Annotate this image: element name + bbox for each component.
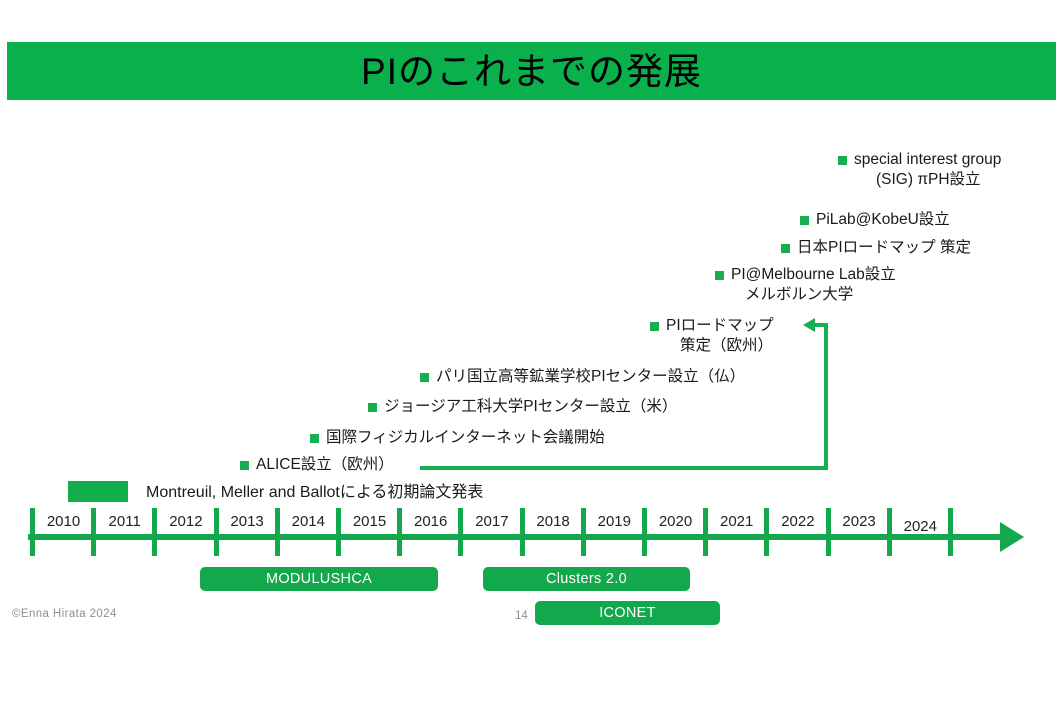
milestone-line1: PI@Melbourne Lab設立 [731, 265, 896, 285]
timeline-year-2011: 2011 [94, 512, 155, 532]
seed-paper-label: Montreuil, Meller and Ballotによる初期論文発表 [146, 483, 483, 503]
bullet-square-icon [838, 156, 847, 165]
timeline-year-2012: 2012 [155, 512, 216, 532]
slide-canvas: PIのこれまでの発展 special interest group (SIG) … [0, 0, 1063, 705]
bullet-square-icon [368, 403, 377, 412]
milestone-line1: ジョージア工科大学PIセンター設立（米） [384, 397, 677, 417]
footer-copyright: ©Enna Hirata 2024 [12, 608, 117, 620]
timeline-tick-lower [642, 540, 647, 556]
timeline-axis-line [28, 534, 1006, 540]
connector-arrow-icon [803, 318, 815, 332]
milestone-japan-pi-roadmap: 日本PIロードマップ 策定 [781, 238, 971, 258]
bullet-square-icon [650, 322, 659, 331]
seed-paper-block [68, 481, 128, 502]
milestone-line1: パリ国立高等鉱業学校PIセンター設立（仏） [436, 367, 745, 387]
milestone-ipic-conference: 国際フィジカルインターネット会議開始 [310, 428, 605, 448]
timeline-year-2015: 2015 [339, 512, 400, 532]
timeline-tick-lower [214, 540, 219, 556]
milestone-line2: メルボルン大学 [731, 285, 896, 305]
milestone-line1: ALICE設立（欧州） [256, 455, 394, 475]
timeline-tick-lower [703, 540, 708, 556]
milestone-text-group: PI@Melbourne Lab設立 メルボルン大学 [731, 265, 896, 305]
timeline-year-2010: 2010 [33, 512, 94, 532]
milestone-line2: 策定（欧州） [666, 336, 774, 356]
timeline-year-2017: 2017 [461, 512, 522, 532]
milestone-pi-roadmap-eu: PIロードマップ 策定（欧州） [650, 316, 774, 356]
timeline-year-2019: 2019 [584, 512, 645, 532]
milestone-alice-eu: ALICE設立（欧州） [240, 455, 394, 475]
milestone-text-group: PIロードマップ 策定（欧州） [666, 316, 774, 356]
project-bar-clusters20[interactable]: Clusters 2.0 [483, 567, 690, 591]
milestone-line1: 国際フィジカルインターネット会議開始 [326, 428, 605, 448]
timeline-tick-lower [887, 540, 892, 556]
timeline-year-2020: 2020 [645, 512, 706, 532]
timeline-tick-lower [91, 540, 96, 556]
project-bar-label: ICONET [599, 605, 656, 621]
timeline-year-2013: 2013 [217, 512, 278, 532]
timeline-year-2021: 2021 [706, 512, 767, 532]
milestone-mines-paristech-pi-center: パリ国立高等鉱業学校PIセンター設立（仏） [420, 367, 745, 387]
milestone-line1: special interest group [854, 150, 1001, 170]
milestone-line1: 日本PIロードマップ 策定 [797, 238, 971, 258]
milestone-pi-melbourne-lab: PI@Melbourne Lab設立 メルボルン大学 [715, 265, 896, 305]
timeline-tick-lower [581, 540, 586, 556]
timeline-tick-lower [30, 540, 35, 556]
milestone-georgia-tech-pi-center: ジョージア工科大学PIセンター設立（米） [368, 397, 677, 417]
connector-vertical-line [824, 325, 828, 470]
timeline-tick-lower [948, 540, 953, 556]
milestone-sig-piph: special interest group (SIG) πPH設立 [838, 150, 1001, 190]
milestone-text-group: special interest group (SIG) πPH設立 [854, 150, 1001, 190]
timeline-tick-lower [764, 540, 769, 556]
project-bar-label: MODULUSHCA [266, 571, 372, 587]
timeline-year-2023: 2023 [829, 512, 890, 532]
timeline-year-2022: 2022 [767, 512, 828, 532]
timeline-year-2018: 2018 [523, 512, 584, 532]
timeline-year-2024: 2024 [890, 517, 951, 537]
page-title: PIのこれまでの発展 [361, 53, 702, 90]
timeline-tick-lower [520, 540, 525, 556]
bullet-square-icon [240, 461, 249, 470]
timeline-tick-lower [826, 540, 831, 556]
timeline-arrow-icon [1000, 522, 1024, 552]
milestone-line2: (SIG) πPH設立 [854, 170, 1001, 190]
timeline-tick-lower [275, 540, 280, 556]
seed-paper-label-wrap: Montreuil, Meller and Ballotによる初期論文発表 [146, 483, 483, 503]
bullet-square-icon [715, 271, 724, 280]
timeline-year-2016: 2016 [400, 512, 461, 532]
title-banner: PIのこれまでの発展 [7, 42, 1056, 100]
milestone-line1: PiLab@KobeU設立 [816, 210, 950, 230]
bullet-square-icon [781, 244, 790, 253]
milestone-pilab-kobeu: PiLab@KobeU設立 [800, 210, 950, 230]
bullet-square-icon [310, 434, 319, 443]
project-bar-modulushca[interactable]: MODULUSHCA [200, 567, 438, 591]
connector-horizontal-line [420, 466, 828, 470]
bullet-square-icon [800, 216, 809, 225]
milestone-line1: PIロードマップ [666, 316, 774, 336]
project-bar-iconet[interactable]: ICONET [535, 601, 720, 625]
timeline-tick-lower [458, 540, 463, 556]
bullet-square-icon [420, 373, 429, 382]
timeline-tick-lower [397, 540, 402, 556]
project-bar-label: Clusters 2.0 [546, 571, 627, 587]
timeline-tick-lower [152, 540, 157, 556]
timeline-year-2014: 2014 [278, 512, 339, 532]
timeline-tick-lower [336, 540, 341, 556]
page-number: 14 [515, 610, 528, 622]
